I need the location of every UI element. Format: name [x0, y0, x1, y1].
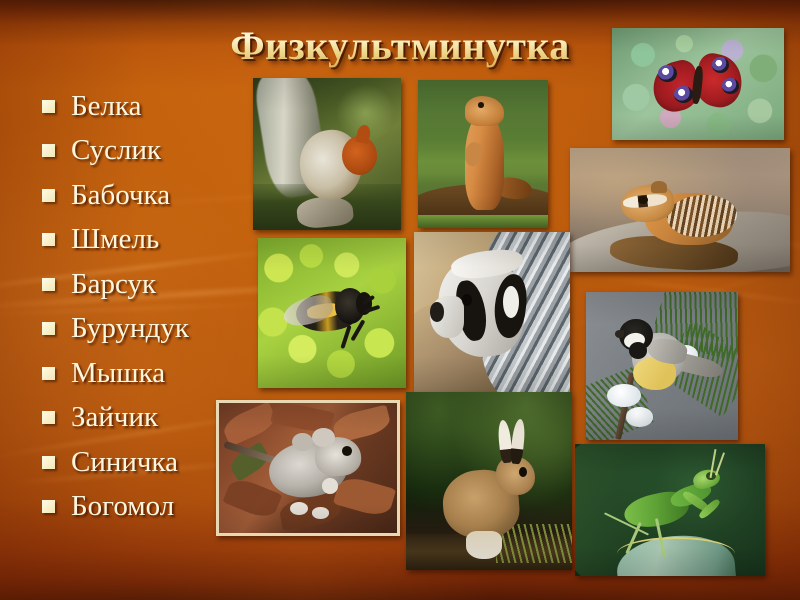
bullet-square-icon	[42, 233, 55, 246]
bumblebee-photo	[258, 238, 406, 388]
hare-photo	[406, 392, 572, 570]
bullet-square-icon	[42, 322, 55, 335]
suslik-photo	[418, 80, 548, 228]
bullet-square-icon	[42, 411, 55, 424]
list-item-label: Барсук	[71, 270, 156, 299]
list-item-label: Мышка	[71, 359, 165, 388]
mouse-photo	[216, 400, 400, 536]
mantis-photo	[575, 444, 765, 576]
presentation-slide: Физкультминутка Белка Суслик Бабочка Шме…	[0, 0, 800, 600]
list-item-label: Белка	[71, 92, 142, 121]
list-item: Бурундук	[42, 307, 272, 352]
chipmunk-photo	[570, 148, 790, 272]
badger-photo	[414, 232, 570, 392]
bullet-square-icon	[42, 189, 55, 202]
list-item: Шмель	[42, 218, 272, 263]
list-item: Мышка	[42, 351, 272, 396]
bullet-square-icon	[42, 100, 55, 113]
list-item-label: Суслик	[71, 136, 161, 165]
list-item-label: Синичка	[71, 448, 178, 477]
bullet-square-icon	[42, 367, 55, 380]
bullet-square-icon	[42, 456, 55, 469]
bullet-square-icon	[42, 278, 55, 291]
list-item-label: Бабочка	[71, 181, 170, 210]
bullet-square-icon	[42, 144, 55, 157]
list-item-label: Богомол	[71, 492, 174, 521]
list-item-label: Зайчик	[71, 403, 158, 432]
butterfly-photo	[612, 28, 784, 140]
tit-photo	[586, 292, 738, 440]
bullet-square-icon	[42, 500, 55, 513]
squirrel-photo	[253, 78, 401, 230]
list-item-label: Бурундук	[71, 314, 189, 343]
list-item-label: Шмель	[71, 225, 159, 254]
list-item: Белка	[42, 84, 272, 129]
list-item: Бабочка	[42, 173, 272, 218]
list-item: Суслик	[42, 129, 272, 174]
list-item: Барсук	[42, 262, 272, 307]
